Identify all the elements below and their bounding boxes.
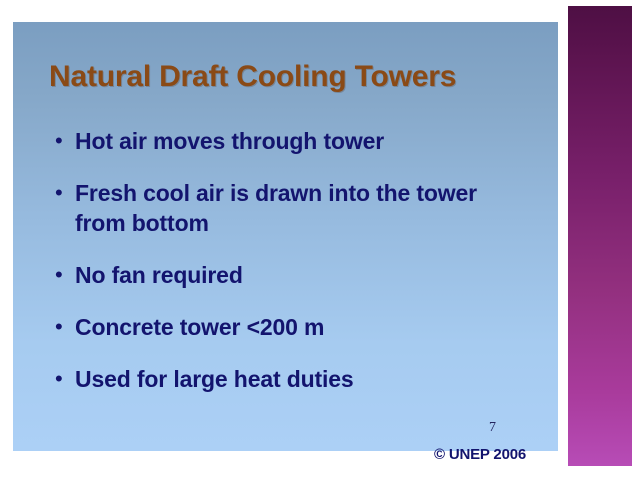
list-item: • Concrete tower <200 m (49, 312, 519, 342)
bullet-list: • Hot air moves through tower • Fresh co… (49, 126, 519, 416)
list-item-label: Concrete tower <200 m (75, 312, 519, 342)
bullet-dot-icon: • (49, 126, 75, 156)
list-item-label: Hot air moves through tower (75, 126, 519, 156)
bullet-dot-icon: • (49, 178, 75, 208)
list-item: • Hot air moves through tower (49, 126, 519, 156)
decorative-accent-band (568, 6, 632, 466)
page-title: Natural Draft Cooling Towers (49, 60, 456, 94)
page-number: 7 (489, 420, 496, 436)
bullet-dot-icon: • (49, 260, 75, 290)
bullet-dot-icon: • (49, 364, 75, 394)
slide-canvas: Natural Draft Cooling Towers • Hot air m… (0, 0, 638, 478)
slide-content-panel: Natural Draft Cooling Towers • Hot air m… (13, 22, 558, 451)
list-item-label: Fresh cool air is drawn into the tower f… (75, 178, 519, 238)
list-item: • Used for large heat duties (49, 364, 519, 394)
list-item-label: No fan required (75, 260, 519, 290)
list-item: • No fan required (49, 260, 519, 290)
copyright-notice: © UNEP 2006 (434, 446, 526, 463)
bullet-dot-icon: • (49, 312, 75, 342)
list-item: • Fresh cool air is drawn into the tower… (49, 178, 519, 238)
list-item-label: Used for large heat duties (75, 364, 519, 394)
